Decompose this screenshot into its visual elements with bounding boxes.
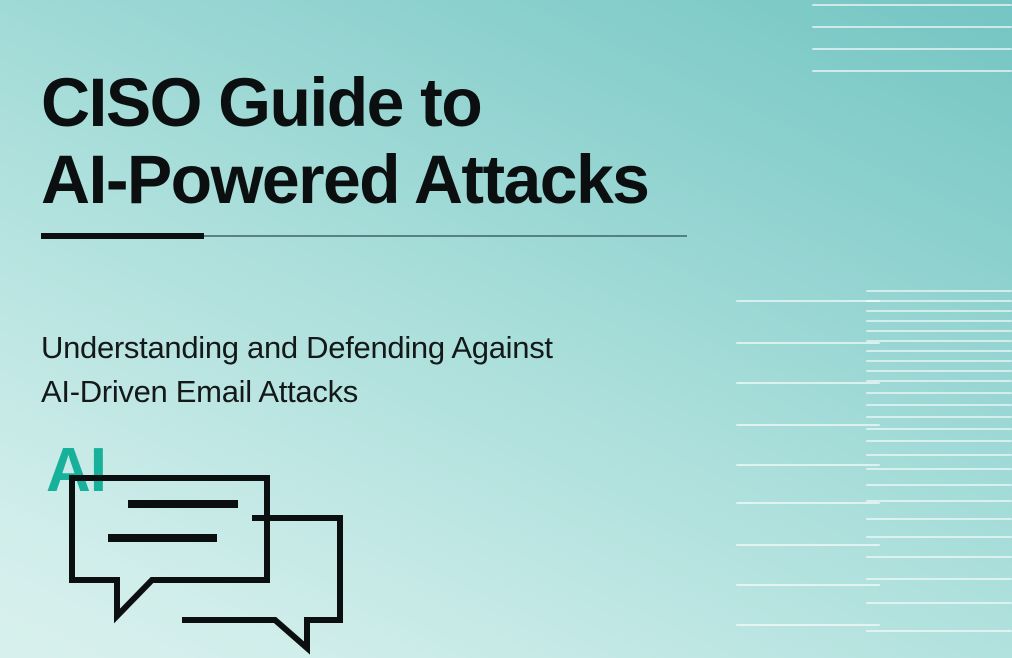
decorative-line xyxy=(866,454,1012,456)
decorative-line xyxy=(866,428,1012,430)
page-subtitle: Understanding and Defending Against AI-D… xyxy=(41,326,801,414)
decorative-line xyxy=(866,330,1012,332)
decorative-line xyxy=(866,556,1012,558)
decorative-line xyxy=(736,544,880,546)
decorative-line xyxy=(866,350,1012,352)
ai-chat-logo: AI xyxy=(42,440,362,655)
divider-thin-segment xyxy=(204,235,687,237)
decorative-line xyxy=(736,502,880,504)
decorative-line xyxy=(866,440,1012,442)
chat-bubbles-icon xyxy=(42,440,362,655)
decorative-line xyxy=(812,48,1012,50)
decorative-line xyxy=(812,4,1012,6)
decorative-line xyxy=(866,300,1012,302)
decorative-line xyxy=(866,602,1012,604)
decorative-line xyxy=(866,536,1012,538)
decorative-line xyxy=(866,360,1012,362)
decorative-line xyxy=(736,584,880,586)
decorative-line xyxy=(866,340,1012,342)
page-title: CISO Guide to AI-Powered Attacks xyxy=(41,64,868,218)
decorative-line xyxy=(812,26,1012,28)
decorative-line xyxy=(866,370,1012,372)
decorative-line xyxy=(866,630,1012,632)
decorative-line xyxy=(736,464,880,466)
decorative-line xyxy=(866,290,1012,292)
decorative-line xyxy=(866,416,1012,418)
decorative-line xyxy=(866,404,1012,406)
decorative-line xyxy=(736,624,880,626)
divider-thick-segment xyxy=(41,233,204,239)
ebook-cover: CISO Guide to AI-Powered Attacks Underst… xyxy=(0,0,1012,658)
decorative-line xyxy=(866,500,1012,502)
decorative-lines-bottom-dense xyxy=(866,288,1012,658)
divider xyxy=(41,232,687,240)
decorative-line xyxy=(866,518,1012,520)
decorative-line xyxy=(866,468,1012,470)
decorative-line xyxy=(866,320,1012,322)
decorative-line xyxy=(866,380,1012,382)
decorative-line xyxy=(866,484,1012,486)
decorative-line xyxy=(866,392,1012,394)
decorative-line xyxy=(736,424,880,426)
decorative-line xyxy=(736,300,880,302)
decorative-line xyxy=(866,578,1012,580)
decorative-line xyxy=(866,310,1012,312)
